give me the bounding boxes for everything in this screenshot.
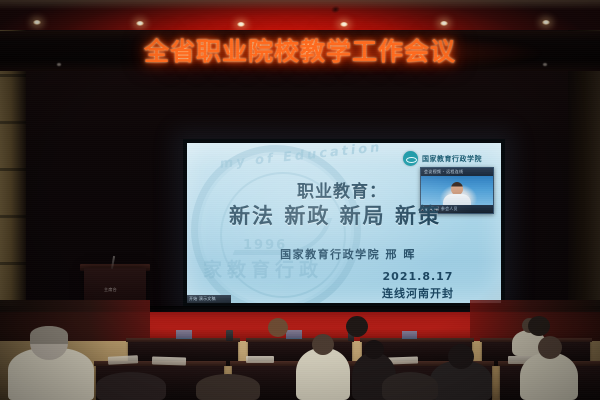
institute-logo-name: 国家教育行政学院 bbox=[422, 154, 482, 164]
slide-place: 连线河南开封 bbox=[363, 285, 473, 301]
downlight-5 bbox=[440, 21, 448, 26]
downlight-2 bbox=[136, 21, 144, 26]
downlight-6 bbox=[542, 20, 550, 25]
downlight-1 bbox=[33, 20, 41, 25]
desk-monitor-3 bbox=[402, 331, 417, 339]
desk-monitor-1 bbox=[176, 330, 192, 339]
attendee-10-head bbox=[268, 318, 288, 337]
paper-1 bbox=[108, 355, 138, 365]
paper-2 bbox=[152, 356, 186, 365]
attendee-5-body bbox=[296, 348, 350, 400]
paper-3 bbox=[246, 356, 274, 363]
downlight-3 bbox=[237, 22, 245, 27]
desk-monitor-2 bbox=[286, 330, 302, 339]
conference-hall-photo: 全省职业院校教学工作会议 my of Education 1996 家教育行政 … bbox=[0, 0, 600, 400]
institute-seal-icon bbox=[403, 151, 418, 166]
attendee-11-head bbox=[346, 316, 368, 337]
attendee-7-head bbox=[538, 336, 562, 359]
podium-label: 主席台 bbox=[104, 287, 117, 293]
slide-taskbar[interactable]: 开始 演示文稿 bbox=[187, 295, 231, 303]
ceiling-sheen bbox=[0, 0, 600, 10]
pip-title-bar: 会议视频 - 远程连线 bbox=[421, 168, 493, 176]
attendee-12-head bbox=[528, 316, 550, 336]
slide-taskbar-label: 开始 演示文稿 bbox=[189, 296, 216, 302]
led-banner-text: 全省职业院校教学工作会议 bbox=[0, 38, 600, 65]
attendee-8-head bbox=[448, 344, 474, 369]
attendee-4-body bbox=[382, 372, 438, 400]
projection-screen[interactable]: my of Education 1996 家教育行政 国家教育行政学院 会议视频… bbox=[187, 143, 501, 303]
attendee-5-head bbox=[312, 334, 334, 355]
attendee-7-body bbox=[520, 352, 578, 400]
attendee-3-body bbox=[196, 374, 260, 400]
attendee-1-hair bbox=[30, 326, 68, 344]
slide-presenter: 国家教育行政学院 邢 晖 bbox=[233, 246, 463, 262]
downlight-4 bbox=[340, 22, 348, 27]
slide-title-line1: 职业教育： bbox=[217, 177, 467, 202]
attendee-2-body bbox=[96, 372, 166, 400]
slide-title-line2: 新法 新政 新局 新策 bbox=[201, 200, 469, 230]
slide-date: 2021.8.17 bbox=[363, 270, 473, 283]
right-wall-panel bbox=[568, 30, 600, 315]
attendee-6-head bbox=[364, 340, 384, 359]
left-wall-panel-seams bbox=[0, 30, 26, 310]
institute-logo: 国家教育行政学院 bbox=[403, 151, 482, 166]
cup-1 bbox=[226, 330, 233, 341]
